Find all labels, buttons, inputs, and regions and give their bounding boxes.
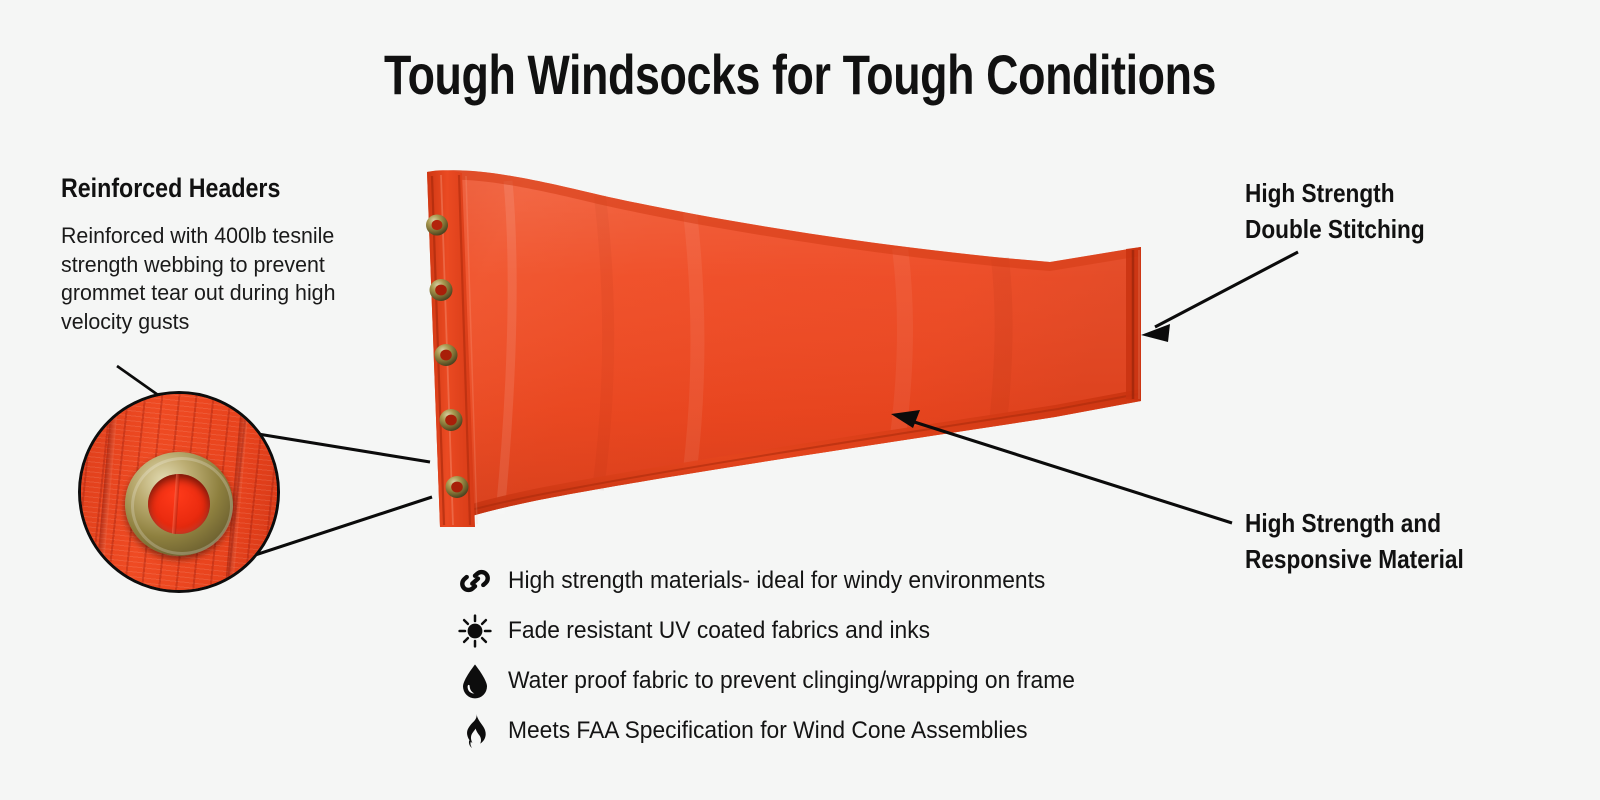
grommet-magnifier-inset xyxy=(78,391,280,593)
feature-item: High strength materials- ideal for windy… xyxy=(452,556,1105,606)
feature-item: Fade resistant UV coated fabrics and ink… xyxy=(452,606,1105,656)
reinforced-headers-body: Reinforced with 400lb tesnile strength w… xyxy=(61,222,356,336)
feature-item: Meets FAA Specification for Wind Cone As… xyxy=(452,706,1105,756)
double-stitching-line1: High Strength xyxy=(1245,175,1425,211)
arrow-double-stitching xyxy=(1141,252,1298,342)
fabric-fold xyxy=(172,474,180,534)
reinforced-headers-heading: Reinforced Headers xyxy=(61,173,280,204)
feature-text: Water proof fabric to prevent clinging/w… xyxy=(508,667,1075,695)
double-stitching-line2: Double Stitching xyxy=(1245,211,1425,247)
responsive-material-note: High Strength and Responsive Material xyxy=(1245,505,1464,577)
feature-text: Fade resistant UV coated fabrics and ink… xyxy=(508,617,930,645)
sun-icon xyxy=(452,609,498,653)
feature-item: Water proof fabric to prevent clinging/w… xyxy=(452,656,1105,706)
infographic-canvas: Tough Windsocks for Tough Conditions Rei… xyxy=(0,0,1600,800)
feature-text: Meets FAA Specification for Wind Cone As… xyxy=(508,717,1028,745)
feature-text: High strength materials- ideal for windy… xyxy=(508,567,1045,595)
arrow-responsive-material xyxy=(891,410,1232,523)
responsive-material-line1: High Strength and xyxy=(1245,505,1464,541)
header-grommets xyxy=(426,215,469,499)
chain-link-icon xyxy=(452,559,498,603)
flame-icon xyxy=(452,709,498,753)
water-droplet-icon xyxy=(452,659,498,703)
feature-list: High strength materials- ideal for windy… xyxy=(452,556,1105,756)
responsive-material-line2: Responsive Material xyxy=(1245,541,1464,577)
grommet-hole xyxy=(148,474,210,534)
double-stitching-note: High Strength Double Stitching xyxy=(1245,175,1425,247)
brass-grommet xyxy=(125,452,233,556)
page-title: Tough Windsocks for Tough Conditions xyxy=(160,42,1440,107)
